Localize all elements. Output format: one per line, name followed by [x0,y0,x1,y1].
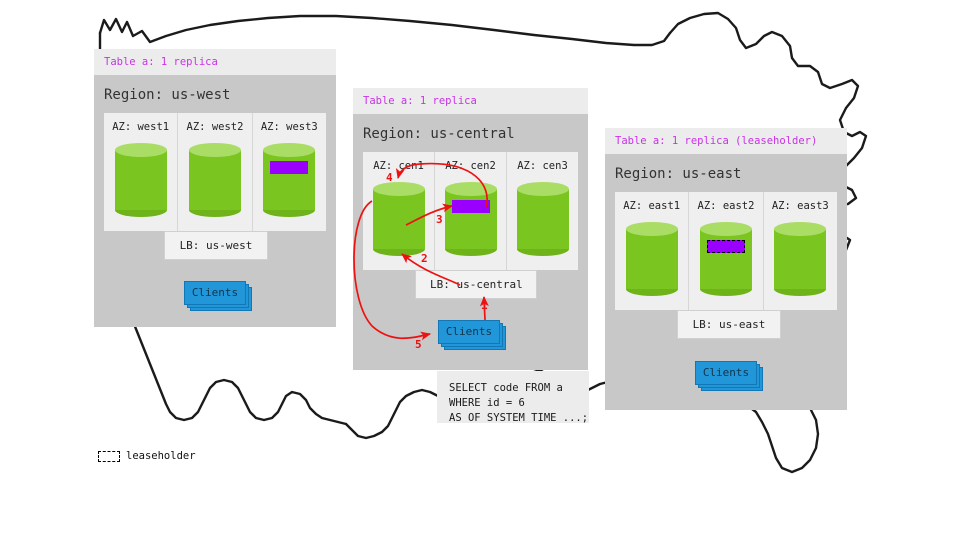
clients-label-us-west: Clients [184,281,246,305]
region-panel-us-east: Table a: 1 replica (leaseholder) Region:… [605,128,847,410]
region-panel-us-central: Table a: 1 replica Region: us-central AZ… [353,88,588,370]
az-cell-west2[interactable]: AZ: west2 [178,113,252,231]
az-label-west2: AZ: west2 [178,121,251,133]
clients-label-us-east: Clients [695,361,757,385]
load-balancer-us-west[interactable]: LB: us-west [164,231,268,260]
replica-cen2[interactable] [452,200,490,213]
az-label-cen3: AZ: cen3 [507,160,578,172]
region-header-us-west: Table a: 1 replica [94,49,336,75]
legend: leaseholder [98,450,196,462]
cylinder-top-icon [517,182,569,196]
az-cell-east3[interactable]: AZ: east3 [764,192,837,310]
node-east2[interactable] [700,222,752,296]
az-cell-east2[interactable]: AZ: east2 [689,192,763,310]
az-label-east2: AZ: east2 [689,200,762,212]
az-label-west1: AZ: west1 [104,121,177,133]
cylinder-body-icon [700,229,752,289]
az-cell-west3[interactable]: AZ: west3 [253,113,326,231]
cylinder-top-icon [189,143,241,157]
clients-us-central[interactable]: Clients [438,320,500,344]
cylinder-body-icon [189,150,241,210]
region-panel-us-west: Table a: 1 replica Region: us-west AZ: w… [94,49,336,327]
az-cell-cen1[interactable]: AZ: cen1 [363,152,435,270]
dashed-rect-icon [98,451,120,462]
az-label-east3: AZ: east3 [764,200,837,212]
az-cell-cen2[interactable]: AZ: cen2 [435,152,507,270]
diagram-canvas: Table a: 1 replica Region: us-west AZ: w… [0,0,960,540]
replica-west3[interactable] [270,161,308,174]
az-label-west3: AZ: west3 [253,121,326,133]
clients-us-west[interactable]: Clients [184,281,246,305]
region-header-us-east: Table a: 1 replica (leaseholder) [605,128,847,154]
az-label-cen2: AZ: cen2 [435,160,506,172]
legend-label: leaseholder [126,450,196,462]
replica-east2-leaseholder[interactable] [707,240,745,253]
node-west3[interactable] [263,143,315,217]
cylinder-top-icon [373,182,425,196]
node-east1[interactable] [626,222,678,296]
cylinder-body-icon [445,189,497,249]
cylinder-body-icon [626,229,678,289]
region-header-us-central: Table a: 1 replica [353,88,588,114]
cylinder-body-icon [263,150,315,210]
cylinder-top-icon [115,143,167,157]
load-balancer-us-east[interactable]: LB: us-east [677,310,781,339]
az-row-us-central: AZ: cen1 AZ: cen2 AZ: cen3 [363,152,578,270]
az-cell-east1[interactable]: AZ: east1 [615,192,689,310]
node-cen2[interactable] [445,182,497,256]
az-label-east1: AZ: east1 [615,200,688,212]
sql-statement-box: SELECT code FROM a WHERE id = 6 AS OF SY… [437,371,589,423]
az-cell-cen3[interactable]: AZ: cen3 [507,152,578,270]
region-title-us-west: Region: us-west [94,75,336,113]
node-cen1[interactable] [373,182,425,256]
node-west1[interactable] [115,143,167,217]
az-row-us-east: AZ: east1 AZ: east2 AZ: east3 [615,192,837,310]
clients-label-us-central: Clients [438,320,500,344]
cylinder-top-icon [626,222,678,236]
region-title-us-east: Region: us-east [605,154,847,192]
cylinder-body-icon [517,189,569,249]
az-label-cen1: AZ: cen1 [363,160,434,172]
cylinder-top-icon [263,143,315,157]
az-cell-west1[interactable]: AZ: west1 [104,113,178,231]
node-cen3[interactable] [517,182,569,256]
region-title-us-central: Region: us-central [353,114,588,152]
az-row-us-west: AZ: west1 AZ: west2 AZ: west3 [104,113,326,231]
cylinder-body-icon [115,150,167,210]
load-balancer-us-central[interactable]: LB: us-central [415,270,537,299]
cylinder-body-icon [373,189,425,249]
cylinder-top-icon [774,222,826,236]
cylinder-top-icon [445,182,497,196]
cylinder-body-icon [774,229,826,289]
node-east3[interactable] [774,222,826,296]
clients-us-east[interactable]: Clients [695,361,757,385]
node-west2[interactable] [189,143,241,217]
cylinder-top-icon [700,222,752,236]
